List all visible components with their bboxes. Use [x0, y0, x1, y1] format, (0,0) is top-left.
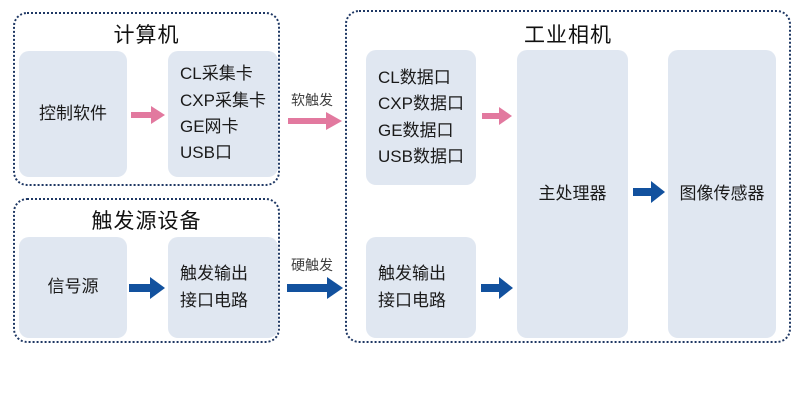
node-main-processor: 主处理器: [517, 50, 628, 338]
edge-label-soft-trigger: 软触发: [291, 93, 333, 107]
node-signal-source: 信号源: [19, 237, 127, 338]
port-line-1: CXP数据口: [378, 91, 464, 117]
group-computer-title: 计算机: [15, 25, 278, 46]
acq-line-1: CXP采集卡: [180, 88, 266, 114]
arrow-signal-source-to-trigger-circuit: [129, 275, 167, 301]
port-line-3: USB数据口: [378, 144, 464, 170]
node-acquisition-cards-lines: CL采集卡 CXP采集卡 GE网卡 USB口: [180, 61, 266, 166]
acq-line-3: USB口: [180, 140, 266, 166]
group-industrial-camera-title: 工业相机: [347, 25, 789, 46]
node-trigger-output-circuit-camera: 触发输出 接口电路: [366, 237, 476, 338]
acq-line-2: GE网卡: [180, 114, 266, 140]
node-trigger-output-circuit-source-lines: 触发输出 接口电路: [180, 261, 248, 314]
port-line-2: GE数据口: [378, 118, 464, 144]
node-control-software: 控制软件: [19, 51, 127, 177]
node-image-sensor-label: 图像传感器: [680, 181, 765, 207]
block-diagram: 计算机 控制软件 CL采集卡 CXP采集卡 GE网卡 USB口 触发源设备 信号…: [0, 0, 800, 403]
node-trigger-output-circuit-camera-lines: 触发输出 接口电路: [378, 261, 446, 314]
arrow-soft-trigger: [288, 110, 344, 132]
group-trigger-source-title: 触发源设备: [15, 211, 278, 232]
node-signal-source-label: 信号源: [48, 274, 99, 300]
trig-src-line-1: 接口电路: [180, 288, 248, 314]
node-data-ports: CL数据口 CXP数据口 GE数据口 USB数据口: [366, 50, 476, 185]
node-trigger-output-circuit-source: 触发输出 接口电路: [168, 237, 278, 338]
node-data-ports-lines: CL数据口 CXP数据口 GE数据口 USB数据口: [378, 65, 464, 170]
port-line-0: CL数据口: [378, 65, 464, 91]
arrow-trigger-circuit-to-main-processor: [481, 276, 515, 300]
node-acquisition-cards: CL采集卡 CXP采集卡 GE网卡 USB口: [168, 51, 278, 177]
arrow-hard-trigger: [287, 276, 345, 300]
node-control-software-label: 控制软件: [39, 101, 107, 127]
acq-line-0: CL采集卡: [180, 61, 266, 87]
arrow-control-software-to-cards: [131, 103, 167, 127]
arrow-data-ports-to-main-processor: [482, 105, 514, 127]
trig-src-line-0: 触发输出: [180, 261, 248, 287]
arrow-main-processor-to-image-sensor: [633, 180, 667, 204]
node-main-processor-label: 主处理器: [539, 181, 607, 207]
node-image-sensor: 图像传感器: [668, 50, 776, 338]
trig-cam-line-0: 触发输出: [378, 261, 446, 287]
edge-label-hard-trigger: 硬触发: [291, 258, 333, 272]
trig-cam-line-1: 接口电路: [378, 288, 446, 314]
